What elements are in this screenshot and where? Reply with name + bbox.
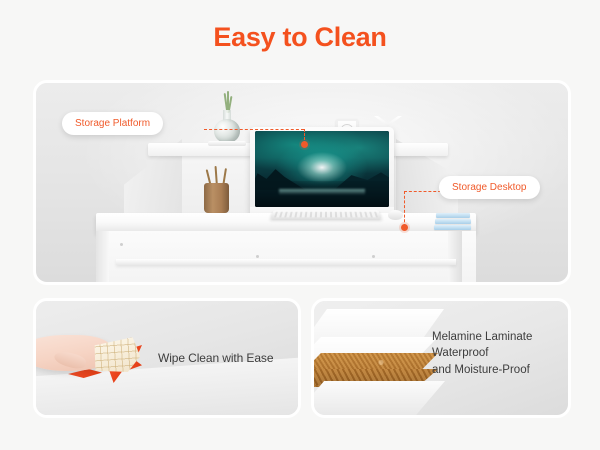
- wooden-pencil-holder: [204, 183, 229, 213]
- board-feature-text: Melamine Laminate Waterproof and Moistur…: [432, 329, 532, 378]
- leader-line-desktop-vertical: [404, 191, 405, 227]
- screw-2: [256, 255, 259, 258]
- desk-lower-shelf: [116, 259, 456, 265]
- screw-1: [120, 243, 123, 246]
- callout-storage-desktop[interactable]: Storage Desktop: [439, 176, 540, 199]
- leader-dot-desktop: [401, 224, 408, 231]
- board-feature-line-2: Waterproof: [432, 345, 532, 361]
- board-feature-line-1: Melamine Laminate: [432, 329, 532, 345]
- feature-panel-wipe: Wipe Clean with Ease: [33, 298, 301, 418]
- desk-left-panel: [96, 231, 109, 285]
- keyboard: [270, 210, 381, 219]
- wallpaper-water-glow: [279, 189, 365, 195]
- vase-base-pad: [208, 141, 246, 146]
- book-3: [434, 225, 471, 230]
- screw-3: [372, 255, 375, 258]
- monitor-screen: [255, 131, 389, 207]
- keyboard-keys: [274, 212, 378, 218]
- desk-right-panel: [448, 231, 462, 285]
- feature-panel-board: Melamine Laminate Waterproof and Moistur…: [311, 298, 571, 418]
- page-title: Easy to Clean: [0, 0, 600, 51]
- book-2: [435, 219, 471, 224]
- leader-line-platform-horizontal: [204, 129, 304, 130]
- board-feature-line-3: and Moisture-Proof: [432, 362, 532, 378]
- desk-lower-body: [96, 231, 476, 285]
- wipe-feature-label: Wipe Clean with Ease: [158, 351, 273, 365]
- glass-vase: [214, 119, 240, 143]
- mouse: [388, 210, 403, 220]
- leader-dot-platform: [301, 141, 308, 148]
- book-1: [436, 213, 470, 218]
- callout-storage-platform[interactable]: Storage Platform: [62, 112, 163, 135]
